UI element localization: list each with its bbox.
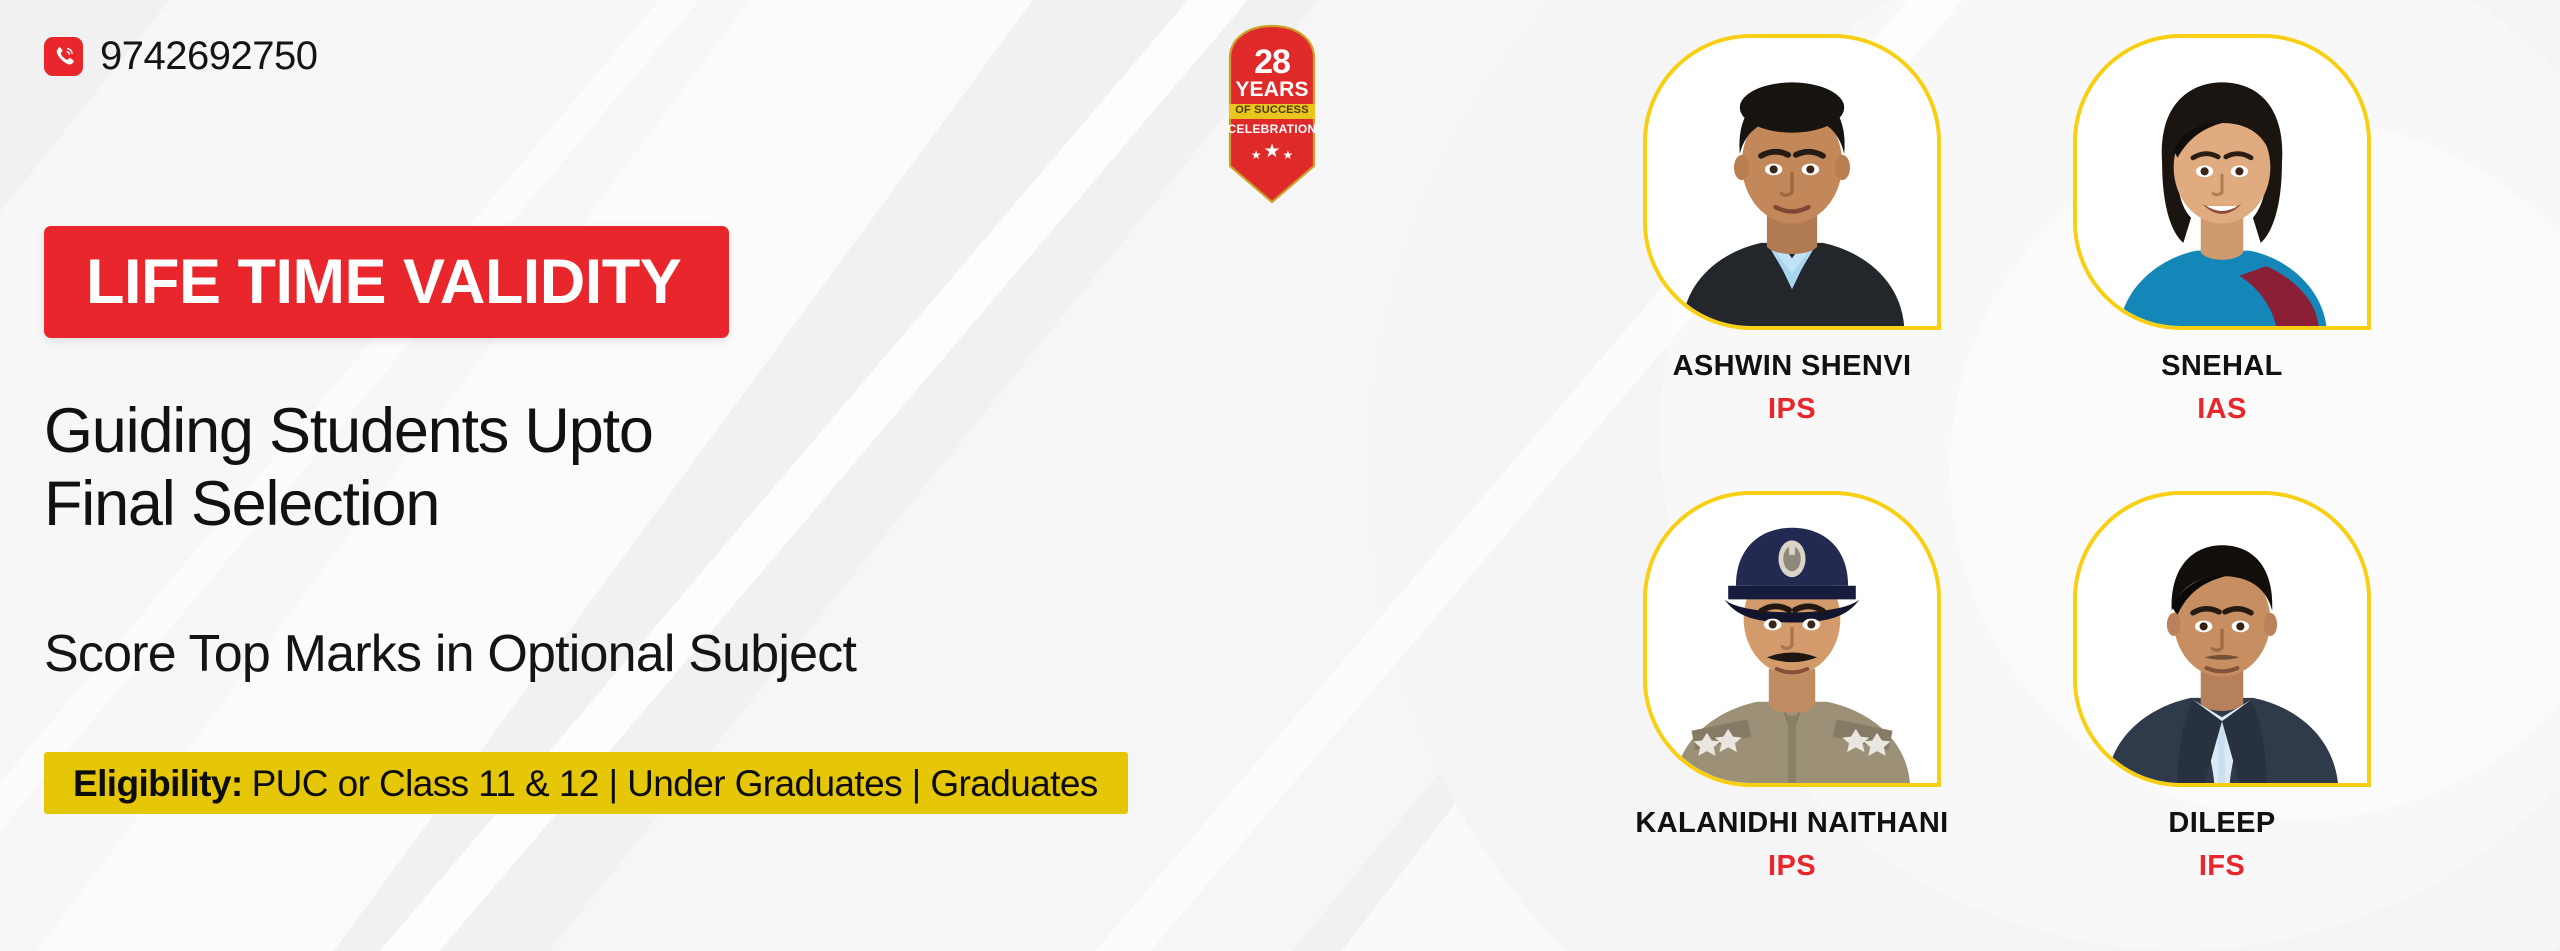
star-icon-left: ★	[1251, 149, 1262, 161]
achiever-photo-frame	[1643, 34, 1941, 330]
portrait-illustration	[2077, 38, 2367, 326]
portrait-illustration	[1647, 495, 1937, 783]
achiever-photo-frame	[2073, 491, 2371, 787]
portrait-photo-ashwin-shenvi	[1647, 38, 1937, 326]
achiever-name: SNEHAL	[2052, 352, 2392, 381]
anniversary-success-highlight: OF SUCCESS	[1229, 104, 1315, 119]
headline-line-1: Guiding Students Upto	[44, 395, 653, 468]
achiever-name: DILEEP	[2052, 809, 2392, 838]
phone-number-text: 9742692750	[100, 36, 317, 76]
achiever-service: IPS	[1622, 395, 1962, 424]
achiever-card[interactable]: DILEEP IFS	[2052, 475, 2392, 950]
anniversary-success-label: OF SUCCESS	[1235, 105, 1309, 117]
anniversary-badge-content: 28 YEARS OF SUCCESS CELEBRATION ★ ★ ★	[1222, 24, 1322, 204]
phone-call-glyph	[51, 43, 77, 69]
headline: Guiding Students Upto Final Selection	[44, 395, 653, 541]
star-icon-right: ★	[1283, 149, 1294, 161]
eligibility-value: PUC or Class 11 & 12 | Under Graduates |…	[252, 765, 1098, 802]
eligibility-bar: Eligibility: PUC or Class 11 & 12 | Unde…	[44, 752, 1128, 814]
anniversary-years-number: 28	[1254, 46, 1290, 78]
achiever-name: ASHWIN SHENVI	[1622, 352, 1962, 381]
anniversary-years-word: YEARS	[1235, 79, 1308, 101]
life-time-validity-label: LIFE TIME VALIDITY	[86, 251, 681, 314]
portrait-illustration	[1647, 38, 1937, 326]
achiever-service: IAS	[2052, 395, 2392, 424]
contact-phone-row[interactable]: 9742692750	[44, 36, 317, 76]
achiever-card[interactable]: SNEHAL IAS	[2052, 0, 2392, 475]
anniversary-badge: 28 YEARS OF SUCCESS CELEBRATION ★ ★ ★	[1222, 24, 1322, 204]
phone-call-icon	[44, 37, 83, 76]
achiever-service: IFS	[2052, 852, 2392, 881]
achiever-card[interactable]: KALANIDHI NAITHANI IPS	[1622, 475, 1962, 950]
achiever-card[interactable]: ASHWIN SHENVI IPS	[1622, 0, 1962, 475]
promotional-banner: 9742692750 LIFE TIME VALIDITY Guiding St…	[0, 0, 2560, 951]
achiever-name: KALANIDHI NAITHANI	[1622, 809, 1962, 838]
subheadline: Score Top Marks in Optional Subject	[44, 628, 856, 680]
achiever-photo-frame	[1643, 491, 1941, 787]
three-stars-icon: ★ ★ ★	[1251, 142, 1294, 161]
headline-line-2: Final Selection	[44, 468, 653, 541]
anniversary-celebration-label: CELEBRATION	[1227, 123, 1316, 136]
left-content-column: 9742692750 LIFE TIME VALIDITY Guiding St…	[0, 0, 1180, 951]
portrait-illustration	[2077, 495, 2367, 783]
life-time-validity-badge: LIFE TIME VALIDITY	[44, 226, 729, 338]
achiever-service: IPS	[1622, 852, 1962, 881]
portrait-photo-dileep	[2077, 495, 2367, 783]
eligibility-label: Eligibility:	[73, 765, 243, 802]
portrait-photo-kalanidhi-naithani	[1647, 495, 1937, 783]
portrait-photo-snehal	[2077, 38, 2367, 326]
achievers-grid: ASHWIN SHENVI IPS	[1610, 0, 2560, 951]
star-icon-center: ★	[1263, 142, 1280, 161]
achiever-photo-frame	[2073, 34, 2371, 330]
